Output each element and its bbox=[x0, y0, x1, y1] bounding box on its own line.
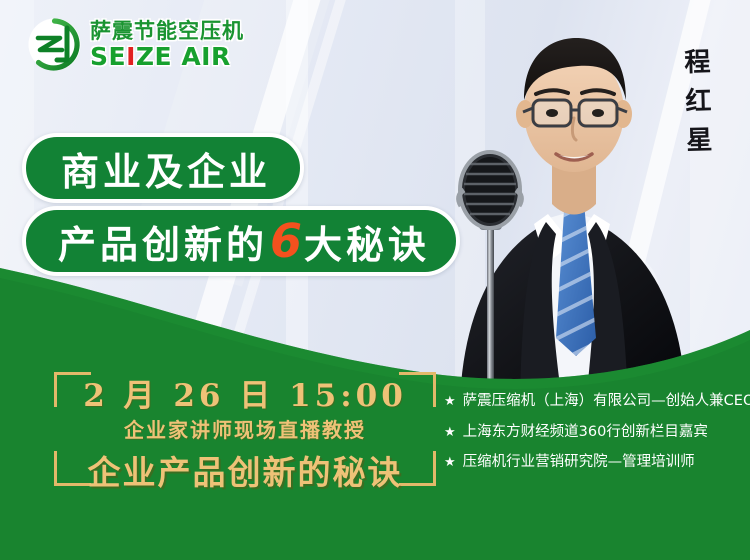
headline-number: 6 bbox=[268, 214, 304, 268]
brand-en-accent: I bbox=[126, 42, 136, 71]
brand-name-cn: 萨震节能空压机 bbox=[90, 21, 244, 42]
poster-canvas: 萨震节能空压机 SEIZE AIR 商业及企业 产品创新的6大秘诀 程红星 2 … bbox=[0, 0, 750, 560]
credentials-list: ★ 萨震压缩机（上海）有限公司—创始人兼CEO ★ 上海东方财经频道360行创新… bbox=[444, 392, 744, 484]
headline-pill-2: 产品创新的6大秘诀 bbox=[22, 206, 460, 276]
speaker-name-calligraphy: 程红星 bbox=[676, 48, 716, 166]
list-item: ★ 压缩机行业营销研究院—管理培训师 bbox=[444, 453, 744, 473]
star-icon: ★ bbox=[444, 392, 456, 412]
star-icon: ★ bbox=[444, 423, 456, 443]
credential-text: 萨震压缩机（上海）有限公司—创始人兼CEO bbox=[463, 392, 750, 412]
headline-line1: 商业及企业 bbox=[61, 141, 271, 196]
credential-text: 压缩机行业营销研究院—管理培训师 bbox=[463, 453, 695, 473]
sz-circle-monogram-icon bbox=[26, 16, 83, 73]
brand-en-part2: ZE AIR bbox=[136, 42, 231, 71]
headline-line2-after: 大秘诀 bbox=[304, 214, 430, 269]
list-item: ★ 上海东方财经频道360行创新栏目嘉宾 bbox=[444, 423, 744, 443]
brand-logo: 萨震节能空压机 SEIZE AIR bbox=[26, 16, 244, 73]
credential-text: 上海东方财经频道360行创新栏目嘉宾 bbox=[463, 423, 708, 443]
event-main-title: 企业产品创新的秘诀 bbox=[54, 446, 436, 494]
star-icon: ★ bbox=[444, 453, 456, 473]
speaker-portrait bbox=[420, 8, 720, 400]
event-date: 2 月 26 日 15:00 bbox=[54, 370, 436, 415]
brand-name-en: SEIZE AIR bbox=[90, 44, 244, 69]
brand-en-part1: SE bbox=[90, 42, 126, 71]
event-subtitle: 企业家讲师现场直播教授 bbox=[54, 414, 436, 443]
background-band bbox=[0, 0, 34, 560]
headline-pill-1: 商业及企业 bbox=[22, 133, 304, 203]
event-info-block: 2 月 26 日 15:00 企业家讲师现场直播教授 企业产品创新的秘诀 bbox=[54, 366, 436, 492]
headline-line2-before: 产品创新的 bbox=[58, 214, 268, 269]
list-item: ★ 萨震压缩机（上海）有限公司—创始人兼CEO bbox=[444, 392, 744, 412]
